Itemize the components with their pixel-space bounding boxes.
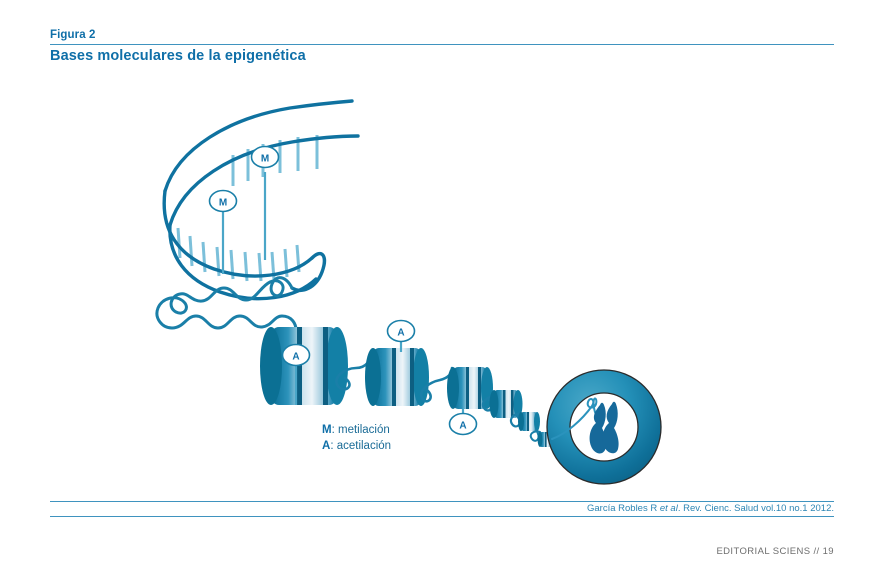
source-divider-top <box>50 501 834 502</box>
methylation-marker-1-label: M <box>261 154 269 165</box>
methylation-marker-2-label: M <box>219 198 227 209</box>
source-etal: et al <box>660 503 678 514</box>
acetylation-marker-3: A <box>450 409 477 435</box>
header-divider <box>50 44 834 45</box>
nucleosome-3 <box>447 367 493 409</box>
cell-nucleus <box>547 370 661 484</box>
nucleosome-5 <box>518 412 540 431</box>
page-footer: EDITORIAL SCIENS // 19 <box>716 546 834 557</box>
legend-row-methylation: M: metilación <box>322 422 391 438</box>
legend-label-methylation: : metilación <box>332 424 390 436</box>
acetylation-marker-1-label: A <box>292 352 299 363</box>
nucleosome-2 <box>365 348 429 406</box>
legend-row-acetylation: A: acetilación <box>322 438 391 454</box>
legend-label-acetylation: : acetilación <box>330 440 391 452</box>
diagram-legend: M: metilación A: acetilación <box>322 422 391 454</box>
methylation-marker-1: M <box>252 147 279 261</box>
source-citation: García Robles R et al. Rev. Cienc. Salud… <box>587 503 834 514</box>
nucleosome-1 <box>260 327 348 405</box>
acetylation-marker-3-label: A <box>459 421 466 432</box>
source-author: García Robles R <box>587 503 660 514</box>
dna-double-helix <box>164 101 358 299</box>
page: Figura 2 Bases moleculares de la epigené… <box>0 0 884 584</box>
source-divider-bottom <box>50 516 834 517</box>
legend-key-methylation: M <box>322 424 332 436</box>
epigenetics-diagram: M M <box>0 60 884 490</box>
acetylation-marker-2: A <box>388 321 415 353</box>
source-reference: . Rev. Cienc. Salud vol.10 no.1 2012. <box>678 503 834 514</box>
acetylation-marker-2-label: A <box>397 328 404 339</box>
figure-label: Figura 2 <box>50 29 96 41</box>
